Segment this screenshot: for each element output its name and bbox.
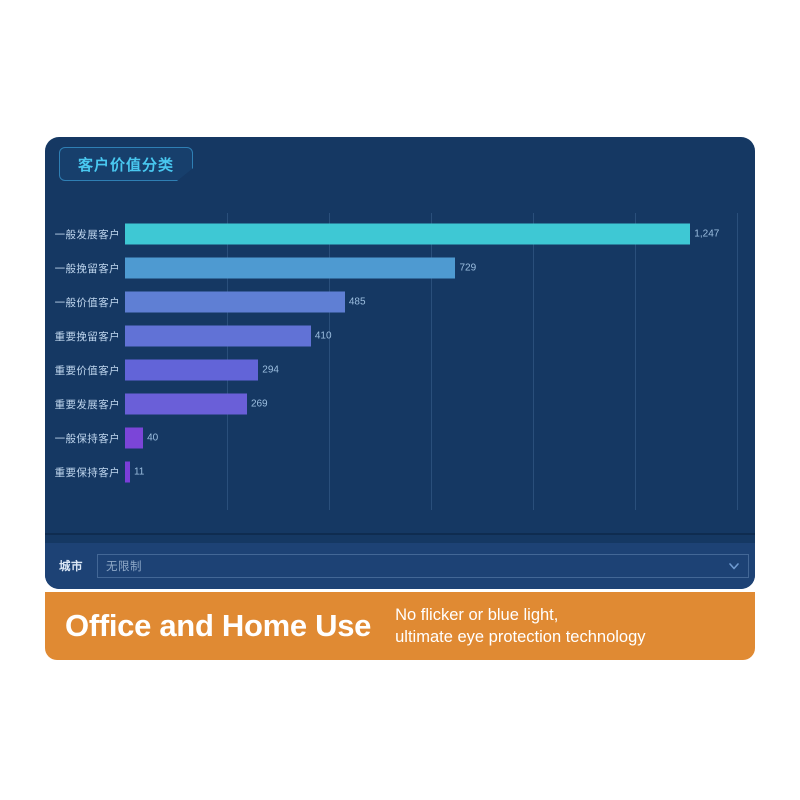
bar-category-label: 一般挽留客户 — [45, 261, 120, 276]
bar-value-label: 410 — [315, 331, 332, 342]
bar-row[interactable]: 一般发展客户1,247 — [45, 217, 755, 251]
chevron-down-icon[interactable] — [728, 560, 740, 572]
bar-value-label: 729 — [459, 263, 476, 274]
bar-value-label: 485 — [349, 297, 366, 308]
chart-title-text: 客户价值分类 — [78, 154, 174, 175]
bar-row[interactable]: 一般价值客户485 — [45, 285, 755, 319]
screenshot-stage: 客户价值分类 一般发展客户1,247一般挽留客户729一般价值客户485重要挽留… — [0, 0, 800, 800]
bar-value-label: 269 — [251, 399, 268, 410]
bar-track: 410 — [125, 326, 332, 347]
promo-subtext: No flicker or blue light, ultimate eye p… — [395, 604, 645, 649]
panel-divider — [45, 533, 755, 535]
bar-track: 1,247 — [125, 224, 719, 245]
bar-row[interactable]: 重要挽留客户410 — [45, 319, 755, 353]
bar-value-label: 294 — [262, 365, 279, 376]
promo-headline: Office and Home Use — [65, 608, 371, 644]
city-select[interactable]: 无限制 — [97, 554, 749, 578]
bar-category-label: 重要发展客户 — [45, 397, 120, 412]
bar-row[interactable]: 重要发展客户269 — [45, 387, 755, 421]
bar-track: 485 — [125, 292, 366, 313]
bar-track: 294 — [125, 360, 279, 381]
bar-track: 40 — [125, 428, 158, 449]
bar-row[interactable]: 重要保持客户11 — [45, 455, 755, 489]
filter-row: 城市 无限制 — [45, 543, 755, 589]
bar-chart: 一般发展客户1,247一般挽留客户729一般价值客户485重要挽留客户410重要… — [45, 205, 755, 510]
bar-fill[interactable] — [125, 360, 258, 381]
bar-track: 11 — [125, 462, 144, 483]
bar-row[interactable]: 一般保持客户40 — [45, 421, 755, 455]
bar-fill[interactable] — [125, 462, 130, 483]
bar-track: 269 — [125, 394, 268, 415]
bar-row[interactable]: 一般挽留客户729 — [45, 251, 755, 285]
bar-fill[interactable] — [125, 326, 311, 347]
bar-category-label: 重要价值客户 — [45, 363, 120, 378]
promo-banner: Office and Home Use No flicker or blue l… — [45, 592, 755, 660]
bar-track: 729 — [125, 258, 476, 279]
bar-category-label: 重要保持客户 — [45, 465, 120, 480]
bar-category-label: 重要挽留客户 — [45, 329, 120, 344]
bar-category-label: 一般保持客户 — [45, 431, 120, 446]
bar-row[interactable]: 重要价值客户294 — [45, 353, 755, 387]
city-select-value: 无限制 — [98, 558, 142, 574]
bar-value-label: 1,247 — [694, 229, 719, 240]
city-filter-label: 城市 — [45, 558, 97, 574]
bar-value-label: 11 — [134, 467, 144, 478]
bar-fill[interactable] — [125, 224, 690, 245]
bar-value-label: 40 — [147, 433, 158, 444]
bar-fill[interactable] — [125, 258, 455, 279]
bar-fill[interactable] — [125, 292, 345, 313]
dashboard-panel: 客户价值分类 一般发展客户1,247一般挽留客户729一般价值客户485重要挽留… — [45, 137, 755, 589]
bar-category-label: 一般价值客户 — [45, 295, 120, 310]
bar-category-label: 一般发展客户 — [45, 227, 120, 242]
bar-fill[interactable] — [125, 428, 143, 449]
bar-fill[interactable] — [125, 394, 247, 415]
chart-title-badge: 客户价值分类 — [59, 147, 193, 181]
